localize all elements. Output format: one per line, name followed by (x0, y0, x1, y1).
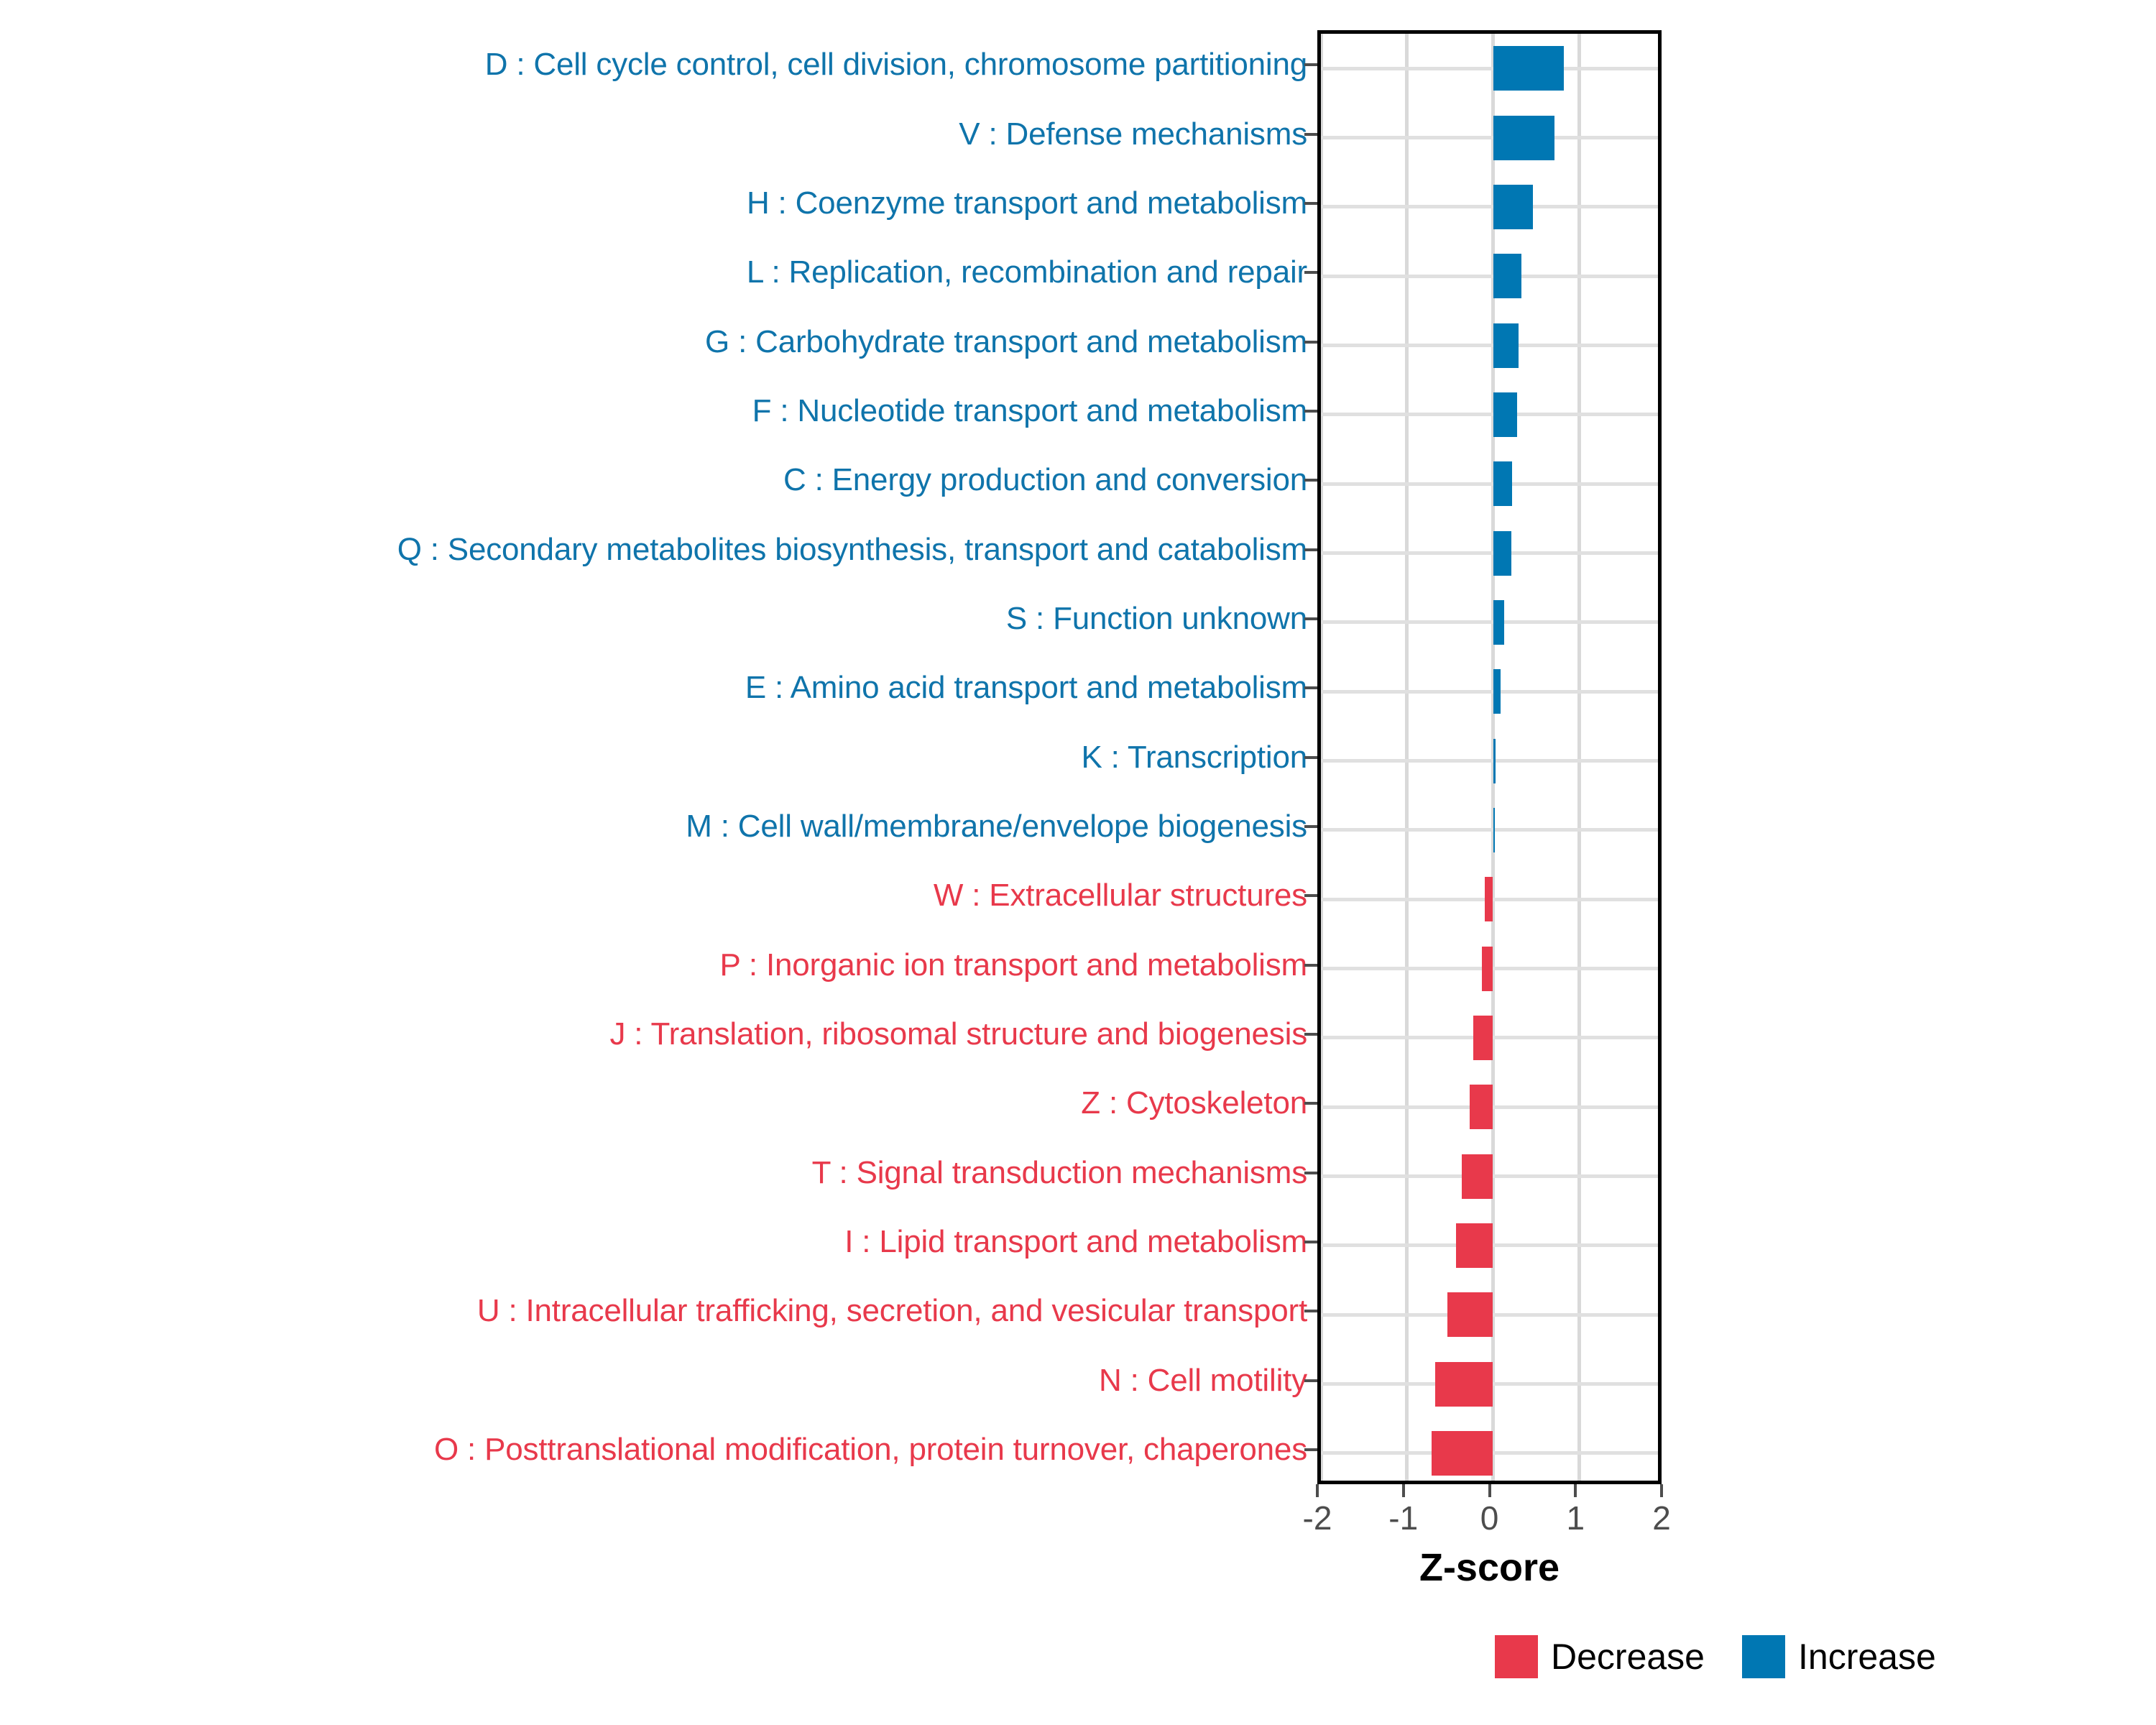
horizontal-gridline (1321, 690, 1658, 694)
y-tick-mark (1304, 1448, 1317, 1451)
category-label: L : Replication, recombination and repai… (747, 257, 1307, 288)
category-label: Q : Secondary metabolites biosynthesis, … (397, 534, 1307, 566)
bar (1493, 116, 1554, 160)
x-tick-mark (1660, 1484, 1663, 1497)
vertical-gridline (1319, 34, 1323, 1481)
bar (1432, 1431, 1493, 1476)
category-label: O : Posttranslational modification, prot… (434, 1434, 1307, 1466)
bar (1493, 46, 1564, 91)
y-tick-mark (1304, 271, 1317, 274)
bar (1435, 1362, 1493, 1407)
y-tick-mark (1304, 1172, 1317, 1174)
x-tick-mark (1316, 1484, 1319, 1497)
vertical-gridline (1405, 34, 1409, 1481)
legend-swatch (1495, 1635, 1538, 1678)
x-tick-mark (1574, 1484, 1577, 1497)
category-label: G : Carbohydrate transport and metabolis… (705, 326, 1307, 358)
bar (1493, 669, 1501, 714)
y-tick-mark (1304, 63, 1317, 66)
y-tick-mark (1304, 825, 1317, 828)
bar (1493, 531, 1511, 576)
category-label: E : Amino acid transport and metabolism (745, 672, 1307, 704)
horizontal-gridline (1321, 67, 1658, 70)
bar (1473, 1016, 1493, 1060)
category-label: W : Extracellular structures (934, 880, 1307, 911)
y-tick-mark (1304, 686, 1317, 689)
x-tick-label: 0 (1480, 1499, 1499, 1537)
legend-item: Decrease (1495, 1635, 1705, 1678)
category-label: Z : Cytoskeleton (1081, 1087, 1307, 1119)
horizontal-gridline (1321, 828, 1658, 832)
horizontal-gridline (1321, 136, 1658, 139)
y-tick-mark (1304, 1310, 1317, 1312)
x-tick-mark (1402, 1484, 1405, 1497)
y-tick-mark (1304, 479, 1317, 482)
x-axis-ticks: -2-1012 (1317, 1484, 1662, 1549)
bar (1462, 1154, 1493, 1199)
horizontal-gridline (1321, 482, 1658, 486)
legend-label: Increase (1798, 1636, 1936, 1678)
horizontal-gridline (1321, 620, 1658, 624)
horizontal-gridline (1321, 551, 1658, 555)
legend-swatch (1742, 1635, 1785, 1678)
y-tick-mark (1304, 964, 1317, 967)
bar (1485, 877, 1493, 921)
category-label: T : Signal transduction mechanisms (812, 1157, 1307, 1189)
bar (1456, 1223, 1493, 1268)
bar (1482, 947, 1493, 991)
category-label: K : Transcription (1081, 742, 1307, 773)
x-tick-label: 2 (1652, 1499, 1671, 1537)
y-tick-mark (1304, 1102, 1317, 1105)
cog-zscore-bar-chart: D : Cell cycle control, cell division, c… (0, 0, 2156, 1725)
bar (1493, 185, 1533, 229)
legend-item: Increase (1742, 1635, 1936, 1678)
category-label: M : Cell wall/membrane/envelope biogenes… (686, 811, 1307, 842)
bar (1447, 1292, 1493, 1337)
y-tick-mark (1304, 410, 1317, 413)
vertical-gridline (1577, 34, 1581, 1481)
x-tick-label: 1 (1566, 1499, 1585, 1537)
y-tick-mark (1304, 1379, 1317, 1382)
bar (1493, 739, 1496, 783)
category-label: P : Inorganic ion transport and metaboli… (720, 949, 1307, 981)
category-label: S : Function unknown (1006, 603, 1307, 635)
horizontal-gridline (1321, 275, 1658, 278)
x-tick-label: -1 (1388, 1499, 1418, 1537)
horizontal-gridline (1321, 759, 1658, 763)
horizontal-gridline (1321, 205, 1658, 208)
x-axis-title: Z-score (1317, 1545, 1662, 1590)
category-label: I : Lipid transport and metabolism (844, 1226, 1307, 1258)
x-tick-mark (1488, 1484, 1491, 1497)
bar (1493, 461, 1512, 506)
category-label: N : Cell motility (1099, 1365, 1307, 1397)
y-tick-mark (1304, 202, 1317, 205)
bar (1493, 808, 1495, 852)
chart-legend: DecreaseIncrease (1495, 1635, 2084, 1678)
y-tick-mark (1304, 1241, 1317, 1243)
category-label: F : Nucleotide transport and metabolism (752, 395, 1307, 427)
y-tick-mark (1304, 894, 1317, 897)
bar (1493, 392, 1518, 437)
bar (1470, 1085, 1493, 1129)
category-label: H : Coenzyme transport and metabolism (747, 188, 1307, 219)
y-tick-mark (1304, 617, 1317, 620)
legend-label: Decrease (1551, 1636, 1705, 1678)
category-label: V : Defense mechanisms (959, 119, 1307, 150)
category-label: C : Energy production and conversion (783, 464, 1307, 496)
y-tick-mark (1304, 341, 1317, 344)
bar (1493, 254, 1522, 298)
y-tick-mark (1304, 548, 1317, 551)
category-label: D : Cell cycle control, cell division, c… (485, 49, 1307, 80)
bar (1493, 600, 1505, 645)
horizontal-gridline (1321, 413, 1658, 416)
category-label-column: D : Cell cycle control, cell division, c… (0, 30, 1317, 1484)
bar (1493, 323, 1519, 368)
y-tick-mark (1304, 133, 1317, 136)
x-tick-label: -2 (1303, 1499, 1332, 1537)
horizontal-gridline (1321, 344, 1658, 347)
plot-panel (1317, 30, 1662, 1484)
y-tick-mark (1304, 1033, 1317, 1036)
category-label: U : Intracellular trafficking, secretion… (477, 1295, 1307, 1327)
y-tick-mark (1304, 756, 1317, 759)
category-label: J : Translation, ribosomal structure and… (609, 1018, 1307, 1050)
